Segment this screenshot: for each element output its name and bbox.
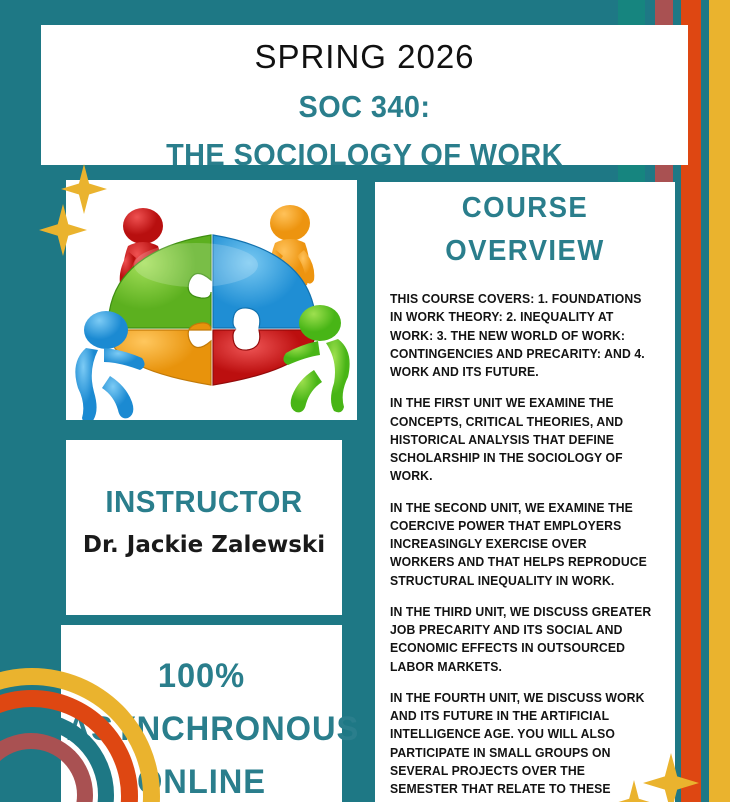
delivery-percent: 100% <box>67 625 337 696</box>
delivery-format: ONLINE <box>67 749 337 802</box>
instructor-name: Dr. Jackie Zalewski <box>66 520 342 558</box>
course-flyer: SPRING 2026 SOC 340: THE SOCIOLOGY OF WO… <box>0 0 730 802</box>
instructor-label: INSTRUCTOR <box>73 440 335 520</box>
course-overview-card: COURSE OVERVIEW THIS COURSE COVERS: 1. F… <box>375 182 675 802</box>
overview-title-line2: OVERVIEW <box>383 225 668 268</box>
teamwork-puzzle-illustration <box>66 180 357 420</box>
overview-body: THIS COURSE COVERS: 1. FOUNDATIONS IN WO… <box>375 268 675 802</box>
course-code: SOC 340: <box>64 76 666 125</box>
course-title: THE SOCIOLOGY OF WORK <box>64 125 666 173</box>
overview-title-line1: COURSE <box>383 182 668 225</box>
overview-paragraph: IN THE SECOND UNIT, WE EXAMINE THE COERC… <box>390 499 653 590</box>
overview-paragraph: THIS COURSE COVERS: 1. FOUNDATIONS IN WO… <box>390 290 653 381</box>
decor-stripe-gold <box>709 0 730 802</box>
term-label: SPRING 2026 <box>41 25 688 76</box>
delivery-mode-card: 100% ASYNCHRONOUS ONLINE <box>61 625 342 802</box>
puzzle-icon <box>66 180 357 420</box>
overview-paragraph: IN THE THIRD UNIT, WE DISCUSS GREATER JO… <box>390 603 653 676</box>
overview-paragraph: IN THE FIRST UNIT WE EXAMINE THE CONCEPT… <box>390 394 653 485</box>
overview-paragraph: IN THE FOURTH UNIT, WE DISCUSS WORK AND … <box>390 689 653 802</box>
header-card: SPRING 2026 SOC 340: THE SOCIOLOGY OF WO… <box>41 25 688 165</box>
illustration-card <box>66 180 357 420</box>
delivery-mode: ASYNCHRONOUS <box>67 696 337 749</box>
instructor-card: INSTRUCTOR Dr. Jackie Zalewski <box>66 440 342 615</box>
